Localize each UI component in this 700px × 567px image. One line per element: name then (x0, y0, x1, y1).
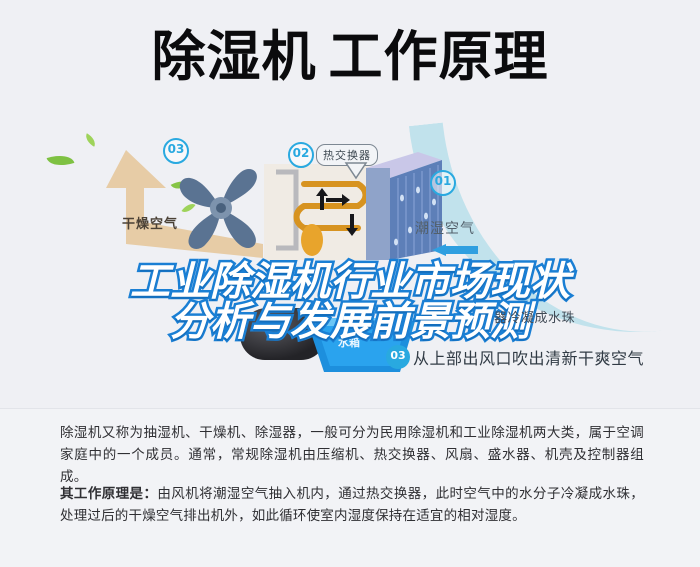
humid-air-label: 潮湿空气 (415, 218, 475, 238)
fan-icon (172, 160, 270, 256)
step-badge-03-note: 03 (386, 345, 410, 369)
page-root: 除湿机工作原理 干燥空气 03 (0, 0, 700, 566)
outlet-air-note: 从上部出风口吹出清新干爽空气 (413, 345, 644, 369)
page-title-part1: 除湿机 (152, 25, 317, 88)
step-badge-01: 01 (430, 170, 456, 196)
headline-line-2: 分析与发展前景预测 (0, 302, 700, 342)
condensation-note: 器冷凝成水珠 (494, 307, 575, 326)
dry-air-label: 干燥空气 (122, 213, 178, 232)
description-paragraph-1: 除湿机又称为抽湿机、干燥机、除湿器，一般可分为民用除湿机和工业除湿机两大类，属于… (60, 422, 644, 488)
description-paragraph-2-lead: 其工作原理是： (60, 486, 157, 502)
headline-overlay: 工业除湿机行业市场现状 分析与发展前景预测 (0, 262, 700, 342)
description-card: 除湿机又称为抽湿机、干燥机、除湿器，一般可分为民用除湿机和工业除湿机两大类，属于… (0, 408, 700, 567)
page-title: 除湿机工作原理 (0, 26, 700, 88)
step-badge-02: 02 (288, 142, 314, 168)
page-title-part2: 工作原理 (329, 25, 549, 88)
leaf-icon (83, 133, 98, 146)
description-paragraph-2: 其工作原理是：由风机将潮湿空气抽入机内，通过热交换器，此时空气中的水分子冷凝成水… (60, 483, 644, 527)
callout-pointer-icon (344, 162, 368, 180)
air-inlet-arrow-icon (432, 244, 478, 256)
